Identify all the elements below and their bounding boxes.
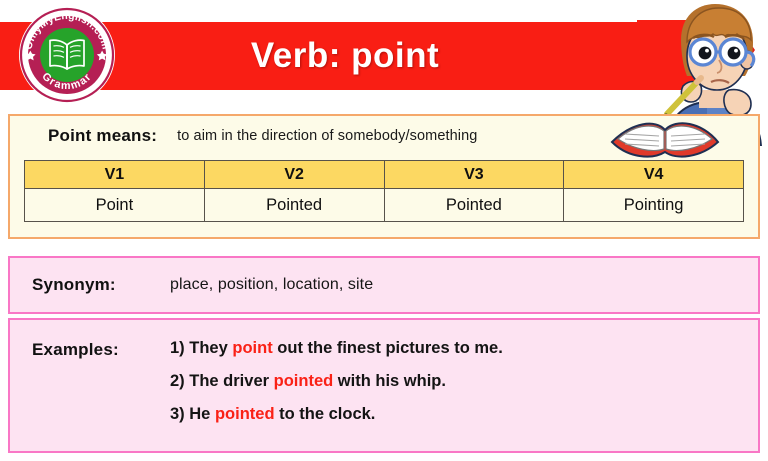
example-text-before: He (189, 405, 215, 423)
example-text-before: The driver (189, 372, 273, 390)
example-highlight: point (232, 339, 272, 357)
examples-list: 1) They point out the finest pictures to… (170, 320, 758, 431)
list-item: 1) They point out the finest pictures to… (170, 332, 758, 365)
table-row: Point Pointed Pointed Pointing (25, 189, 744, 222)
synonym-text: place, position, location, site (170, 276, 373, 293)
column-header-v1: V1 (25, 161, 205, 189)
list-item: 2) The driver pointed with his whip. (170, 365, 758, 398)
examples-panel: Examples: 1) They point out the finest p… (8, 318, 760, 453)
cell-v4-form: Pointing (564, 189, 744, 222)
synonym-body: place, position, location, site (170, 276, 758, 294)
example-text-after: out the finest pictures to me. (273, 339, 503, 357)
cell-v1-form: Point (25, 189, 205, 222)
verb-reference-card: Verb: point OnlyMyEnglish.com Grammar (0, 0, 768, 461)
verb-forms-panel: Point means: to aim in the direction of … (8, 114, 760, 239)
list-item: 3) He pointed to the clock. (170, 398, 758, 431)
example-number: 2) (170, 372, 185, 390)
header: Verb: point OnlyMyEnglish.com Grammar (0, 0, 768, 112)
meaning-text: to aim in the direction of somebody/some… (177, 128, 477, 144)
synonym-label: Synonym: (10, 275, 170, 295)
example-text-after: with his whip. (333, 372, 446, 390)
meaning-row: Point means: to aim in the direction of … (10, 116, 758, 156)
synonym-panel: Synonym: place, position, location, site (8, 256, 760, 314)
cell-v3-form: Pointed (384, 189, 564, 222)
column-header-v2: V2 (204, 161, 384, 189)
examples-body: 1) They point out the finest pictures to… (170, 320, 758, 431)
site-logo[interactable]: OnlyMyEnglish.com Grammar (17, 5, 117, 105)
examples-label: Examples: (10, 320, 170, 360)
example-number: 1) (170, 339, 185, 357)
column-header-v4: V4 (564, 161, 744, 189)
example-text-before: They (189, 339, 232, 357)
example-highlight: pointed (215, 405, 275, 423)
example-highlight: pointed (274, 372, 334, 390)
column-header-v3: V3 (384, 161, 564, 189)
meaning-label: Point means: (48, 126, 157, 146)
example-number: 3) (170, 405, 185, 423)
cell-v2-form: Pointed (204, 189, 384, 222)
table-header-row: V1 V2 V3 V4 (25, 161, 744, 189)
verb-forms-table: V1 V2 V3 V4 Point Pointed Pointed Pointi… (24, 160, 744, 222)
example-text-after: to the clock. (275, 405, 376, 423)
